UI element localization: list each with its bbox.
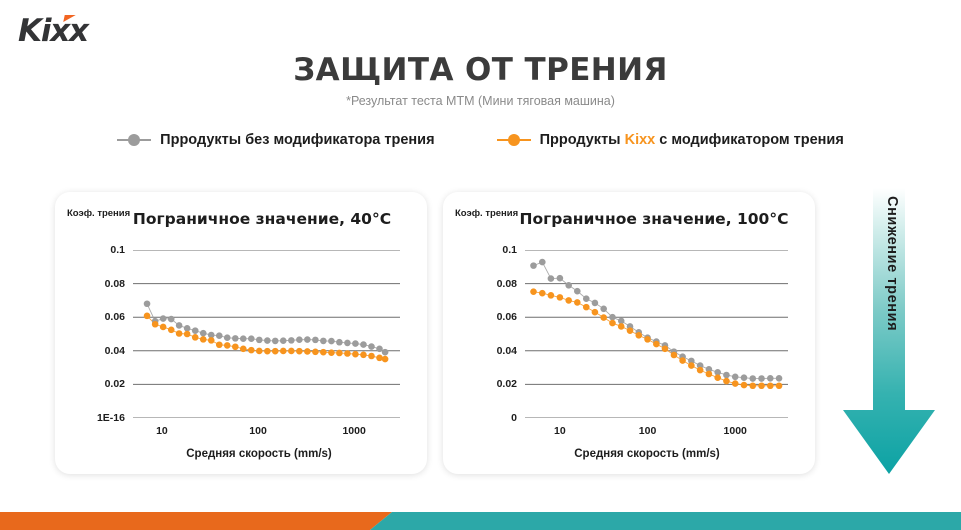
data-point — [758, 375, 765, 382]
arrow-label: Снижение трения — [884, 196, 900, 331]
data-point — [288, 337, 295, 344]
x-tick-label: 10 — [554, 425, 566, 437]
data-point — [336, 350, 343, 357]
chart-card-40c: Коэф. трения Пограничное значение, 40°C … — [55, 192, 427, 474]
data-point — [336, 339, 343, 346]
data-point — [732, 374, 739, 381]
data-point — [574, 299, 581, 306]
data-point — [539, 259, 546, 266]
y-tick-label: 0.08 — [497, 278, 517, 290]
data-point — [776, 382, 783, 389]
data-point — [344, 340, 351, 347]
data-point — [767, 382, 774, 389]
data-point — [574, 288, 581, 295]
x-tick-label: 100 — [639, 425, 657, 437]
data-point — [264, 337, 271, 344]
page-subtitle: *Результат теста МТМ (Мини тяговая машин… — [0, 94, 961, 108]
data-point — [208, 337, 215, 344]
data-point — [732, 380, 739, 387]
y-tick-label: 0 — [511, 412, 517, 424]
data-point — [304, 336, 311, 343]
data-point — [216, 332, 223, 339]
data-point — [557, 294, 564, 301]
data-point — [352, 340, 359, 347]
y-tick-label: 0.04 — [105, 345, 125, 357]
data-point — [758, 382, 765, 389]
slide-canvas: Kixx ЗАЩИТА ОТ ТРЕНИЯ *Результат теста М… — [0, 0, 961, 530]
legend-brand-word: Kixx — [625, 132, 656, 148]
data-point — [296, 348, 303, 355]
data-point — [557, 275, 564, 282]
data-point — [382, 356, 389, 363]
data-point — [272, 348, 279, 355]
data-point — [671, 352, 678, 359]
data-point — [376, 345, 383, 352]
data-point — [583, 295, 590, 302]
data-point — [565, 282, 572, 289]
data-point — [565, 297, 572, 304]
data-point — [767, 375, 774, 382]
x-axis-label: Средняя скорость (mm/s) — [55, 448, 427, 460]
data-point — [530, 262, 537, 269]
data-point — [192, 334, 199, 341]
legend-item-kixx-modifier: Прродукты Kixx с модификатором трения — [497, 132, 844, 148]
data-point — [160, 324, 167, 331]
data-point — [264, 348, 271, 355]
legend-item-label: Прродукты Kixx с модификатором трения — [540, 132, 844, 148]
kixx-logo: Kixx — [18, 14, 128, 48]
circle-marker-icon — [117, 133, 151, 147]
y-tick-label: 0.06 — [497, 311, 517, 323]
data-point — [618, 323, 625, 330]
data-point — [232, 343, 239, 350]
data-point — [176, 330, 183, 337]
data-point — [583, 304, 590, 311]
data-point — [256, 348, 263, 355]
data-point — [224, 334, 231, 341]
legend-item-no-modifier: Прродукты без модификатора трения — [117, 132, 434, 148]
y-tick-label: 0.06 — [105, 311, 125, 323]
data-point — [749, 375, 756, 382]
legend-item-label: Прродукты без модификатора трения — [160, 132, 434, 148]
data-point — [368, 343, 375, 350]
y-tick-label: 1E-16 — [97, 412, 125, 424]
plot-area-40c: 1E-160.020.040.060.080.1101001000 — [133, 250, 400, 418]
data-point — [360, 352, 367, 359]
data-point — [296, 336, 303, 343]
data-point — [723, 372, 730, 379]
chart-legend: Прродукты без модификатора трения Прроду… — [0, 132, 961, 148]
data-point — [272, 338, 279, 345]
data-point — [320, 349, 327, 356]
data-point — [776, 375, 783, 382]
data-point — [688, 362, 695, 369]
chart-title-100c: Пограничное значение, 100°C — [443, 210, 815, 228]
data-point — [328, 338, 335, 345]
data-point — [280, 348, 287, 355]
x-tick-label: 1000 — [342, 425, 365, 437]
data-point — [312, 337, 319, 344]
data-point — [168, 327, 175, 334]
data-point — [609, 320, 616, 327]
data-point — [304, 348, 311, 355]
data-point — [679, 357, 686, 364]
data-point — [320, 338, 327, 345]
x-tick-label: 100 — [249, 425, 267, 437]
y-tick-label: 0.1 — [110, 244, 125, 256]
data-point — [627, 327, 634, 334]
chart-plot-svg — [133, 250, 400, 418]
data-point — [530, 288, 537, 295]
data-point — [600, 306, 607, 313]
data-point — [256, 337, 263, 344]
data-point — [706, 371, 713, 378]
data-point — [749, 382, 756, 389]
data-point — [382, 349, 389, 356]
x-tick-label: 10 — [156, 425, 168, 437]
x-tick-label: 1000 — [724, 425, 747, 437]
y-tick-label: 0.08 — [105, 278, 125, 290]
data-point — [592, 300, 599, 307]
data-point — [609, 314, 616, 321]
data-point — [168, 316, 175, 323]
circle-marker-icon — [497, 133, 531, 147]
y-tick-label: 0.02 — [497, 378, 517, 390]
data-point — [288, 348, 295, 355]
page-title: ЗАЩИТА ОТ ТРЕНИЯ — [0, 52, 961, 88]
data-point — [539, 290, 546, 297]
logo-accent-icon — [63, 15, 75, 22]
footer-bar — [0, 512, 961, 530]
data-point — [280, 337, 287, 344]
data-point — [240, 345, 247, 352]
data-point — [144, 300, 151, 307]
data-point — [248, 347, 255, 354]
data-point — [144, 313, 151, 320]
data-point — [548, 292, 555, 299]
data-point — [344, 350, 351, 357]
series-line — [534, 262, 780, 378]
data-point — [548, 275, 555, 282]
footer-bar-left — [0, 512, 392, 530]
data-point — [368, 353, 375, 360]
chart-plot-svg — [525, 250, 788, 418]
y-tick-label: 0.1 — [502, 244, 517, 256]
data-point — [232, 335, 239, 342]
data-point — [248, 335, 255, 342]
data-point — [653, 341, 660, 348]
data-point — [184, 325, 191, 332]
data-point — [328, 349, 335, 356]
data-point — [160, 315, 167, 322]
data-point — [200, 330, 207, 337]
x-axis-label: Средняя скорость (mm/s) — [443, 448, 815, 460]
data-point — [741, 382, 748, 389]
data-point — [192, 327, 199, 334]
data-point — [224, 342, 231, 349]
data-point — [662, 345, 669, 352]
data-point — [184, 331, 191, 338]
data-point — [176, 322, 183, 329]
data-point — [592, 309, 599, 316]
data-point — [352, 351, 359, 358]
chart-title-40c: Пограничное значение, 40°C — [55, 210, 427, 228]
data-point — [312, 349, 319, 356]
data-point — [240, 335, 247, 342]
data-point — [216, 341, 223, 348]
data-point — [644, 336, 651, 343]
data-point — [714, 374, 721, 381]
data-point — [360, 341, 367, 348]
friction-reduction-arrow: Снижение трения — [843, 188, 943, 480]
y-tick-label: 0.04 — [497, 345, 517, 357]
chart-card-100c: Коэф. трения Пограничное значение, 100°C… — [443, 192, 815, 474]
data-point — [741, 374, 748, 381]
plot-area-100c: 00.020.040.060.080.1101001000 — [525, 250, 788, 418]
footer-bar-right — [370, 512, 961, 530]
y-tick-label: 0.02 — [105, 378, 125, 390]
data-point — [635, 332, 642, 339]
data-point — [376, 355, 383, 362]
data-point — [200, 336, 207, 343]
data-point — [152, 321, 159, 328]
data-point — [723, 378, 730, 385]
data-point — [600, 314, 607, 321]
data-point — [697, 367, 704, 374]
